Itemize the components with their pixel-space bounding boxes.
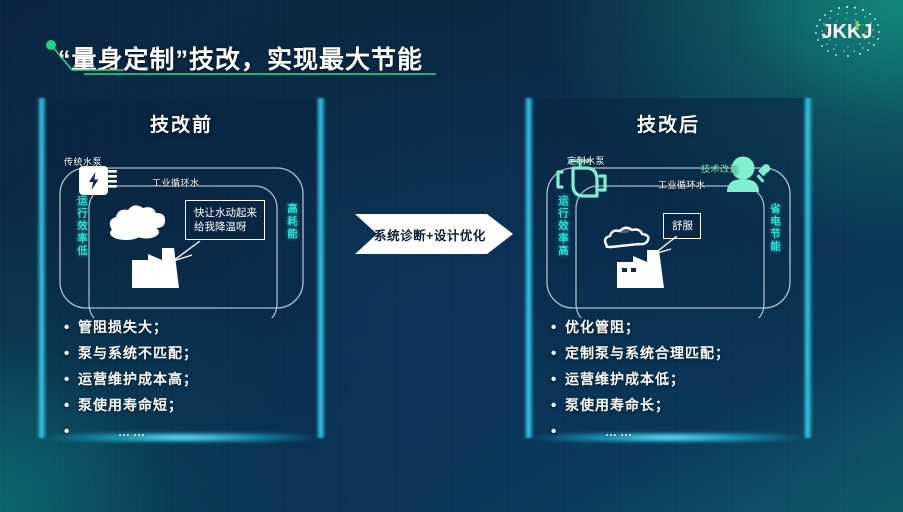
left-metric-before: 运行效率低 — [75, 195, 90, 258]
bullet-dot-icon: • — [64, 372, 78, 387]
right-metric-after: 省电节能 — [768, 203, 783, 253]
bullet-dot-icon: • — [551, 424, 565, 439]
person-label-after: 技术改造 — [701, 162, 739, 175]
bullet-dot-icon: • — [64, 320, 78, 335]
diagram-before: 传统水泵 工业循环水 运行效率低 高耗能 快让水动起来 给我降温呀 — [42, 138, 321, 318]
slide-title: “量身定制”技改，实现最大节能 — [58, 40, 423, 76]
brand-logo: JKKJ — [803, 2, 891, 62]
pump-label-after: 定制水泵 — [567, 154, 605, 167]
bubble-line-2: 给我降温呀 — [194, 220, 257, 234]
panel-after: 技改后 — [529, 98, 808, 438]
list-item: • 泵使用寿命长； — [551, 398, 801, 413]
list-item: • 泵与系统不匹配； — [64, 346, 314, 361]
bubble-line-1: 舒服 — [672, 219, 693, 233]
process-arrow-label: 系统诊断+设计优化 — [355, 212, 515, 256]
bubble-tail-before — [170, 241, 202, 265]
speech-bubble-before: 快让水动起来 给我降温呀 — [185, 200, 265, 240]
bullet-dot-icon: • — [64, 424, 78, 439]
bullet-dot-icon: • — [64, 346, 78, 361]
bubble-line-1: 快让水动起来 — [194, 206, 257, 220]
pump-label-before: 传统水泵 — [64, 155, 102, 168]
list-item: • 优化管阻； — [551, 320, 801, 335]
logo-swirl-icon: JKKJ — [803, 2, 891, 62]
bullet-dot-icon: • — [551, 372, 565, 387]
list-item: • …… — [64, 424, 314, 439]
bubble-tail-after — [651, 236, 679, 258]
electric-pump-icon — [79, 166, 117, 195]
diagram-after: 定制水泵 技术改造 工业循环水 运行效率高 省电节能 舒服 — [529, 138, 808, 318]
list-item: • 泵使用寿命短； — [64, 398, 314, 413]
list-item: • 运营维护成本低； — [551, 372, 801, 387]
list-item: • 管阻损失大； — [64, 320, 314, 335]
logo-wordmark: JKKJ — [821, 21, 872, 43]
panel-before: 技改前 — [42, 98, 321, 438]
bullet-list-before: • 管阻损失大； • 泵与系统不匹配； • 运营维护成本高； • 泵使用寿命短；… — [64, 320, 314, 450]
process-arrow: 系统诊断+设计优化 — [355, 212, 515, 256]
list-item: • 定制泵与系统合理匹配； — [551, 346, 801, 361]
title-underline — [84, 72, 436, 76]
bullet-dot-icon: • — [64, 398, 78, 413]
loop-label-before: 工业循环水 — [152, 176, 200, 189]
panel-before-title: 技改前 — [42, 110, 321, 137]
loop-label-after: 工业循环水 — [658, 178, 706, 191]
list-item: • …… — [551, 424, 801, 439]
list-item: • 运营维护成本高； — [64, 372, 314, 387]
right-metric-before: 高耗能 — [285, 203, 300, 241]
bullet-dot-icon: • — [551, 320, 565, 335]
bullet-dot-icon: • — [551, 398, 565, 413]
panel-after-title: 技改后 — [529, 110, 808, 137]
factory-icon — [110, 205, 179, 288]
bullet-list-after: • 优化管阻； • 定制泵与系统合理匹配； • 运营维护成本低； • 泵使用寿命… — [551, 320, 801, 450]
left-metric-after: 运行效率高 — [556, 195, 571, 258]
slide-canvas: JKKJ “量身定制”技改，实现最大节能 技改前 — [0, 0, 903, 512]
bullet-dot-icon: • — [551, 346, 565, 361]
